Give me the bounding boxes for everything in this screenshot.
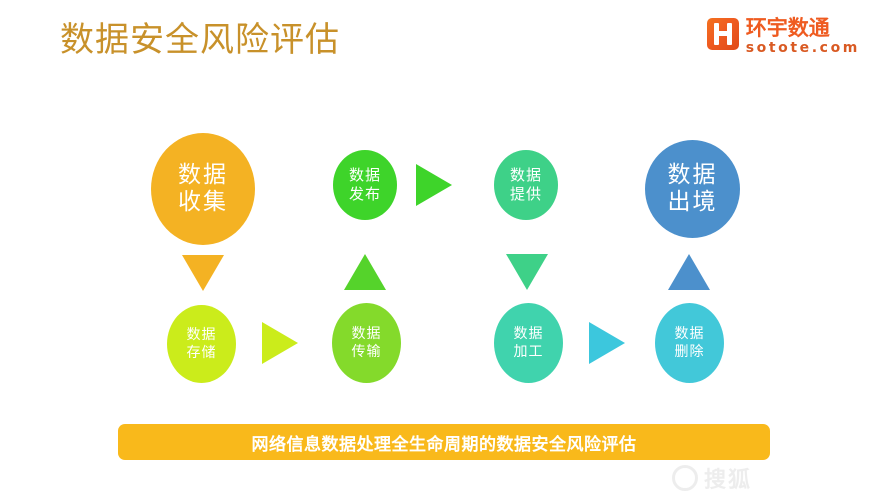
node-label-line2: 加工 bbox=[514, 343, 544, 361]
node-label-line1: 数据 bbox=[675, 325, 705, 343]
node-label-line2: 出境 bbox=[668, 189, 718, 216]
node-data-export[interactable]: 数据 出境 bbox=[645, 140, 740, 238]
caption-text: 网络信息数据处理全生命周期的数据安全风险评估 bbox=[252, 430, 637, 455]
arrow-transmission-to-publishing-up-icon bbox=[344, 254, 386, 290]
node-label-line2: 发布 bbox=[349, 185, 381, 204]
node-label-line2: 存储 bbox=[187, 344, 217, 362]
brand-logo: 环宇数通 sotote.com bbox=[707, 18, 860, 56]
node-label-line1: 数据 bbox=[187, 326, 217, 344]
node-data-provision[interactable]: 数据 提供 bbox=[494, 150, 558, 220]
node-data-transmission[interactable]: 数据 传输 bbox=[332, 303, 401, 383]
node-data-publishing[interactable]: 数据 发布 bbox=[333, 150, 397, 220]
company-h-mark-icon bbox=[707, 18, 739, 50]
node-data-deletion[interactable]: 数据 删除 bbox=[655, 303, 724, 383]
arrow-publishing-to-provision-right-icon bbox=[416, 164, 452, 206]
node-label-line1: 数据 bbox=[668, 162, 718, 189]
watermark: 搜狐 bbox=[672, 462, 752, 494]
node-label-line1: 数据 bbox=[178, 162, 228, 189]
watermark-circle-icon bbox=[672, 465, 698, 491]
arrow-collection-to-storage-down-icon bbox=[182, 255, 224, 291]
arrow-deletion-to-export-up-icon bbox=[668, 254, 710, 290]
brand-name-cn: 环宇数通 bbox=[746, 18, 860, 39]
node-label-line1: 数据 bbox=[352, 325, 382, 343]
caption-banner: 网络信息数据处理全生命周期的数据安全风险评估 bbox=[118, 424, 770, 460]
brand-domain: sotote.com bbox=[746, 41, 860, 56]
arrow-provision-to-processing-down-icon bbox=[506, 254, 548, 290]
watermark-text: 搜狐 bbox=[704, 462, 752, 494]
node-label-line1: 数据 bbox=[514, 325, 544, 343]
node-data-storage[interactable]: 数据 存储 bbox=[167, 305, 236, 383]
node-label-line2: 提供 bbox=[510, 185, 542, 204]
arrow-storage-to-transmission-right-icon bbox=[262, 322, 298, 364]
node-data-collection[interactable]: 数据 收集 bbox=[151, 133, 255, 245]
node-data-processing[interactable]: 数据 加工 bbox=[494, 303, 563, 383]
node-label-line2: 删除 bbox=[675, 343, 705, 361]
arrow-processing-to-deletion-right-icon bbox=[589, 322, 625, 364]
node-label-line1: 数据 bbox=[349, 166, 381, 185]
node-label-line2: 收集 bbox=[178, 189, 228, 216]
node-label-line1: 数据 bbox=[510, 166, 542, 185]
slide-canvas: 数据安全风险评估 环宇数通 sotote.com 数据 收集 数据 发布 数据 … bbox=[0, 0, 888, 500]
page-title: 数据安全风险评估 bbox=[60, 16, 340, 64]
node-label-line2: 传输 bbox=[352, 343, 382, 361]
brand-text-block: 环宇数通 sotote.com bbox=[746, 18, 860, 56]
